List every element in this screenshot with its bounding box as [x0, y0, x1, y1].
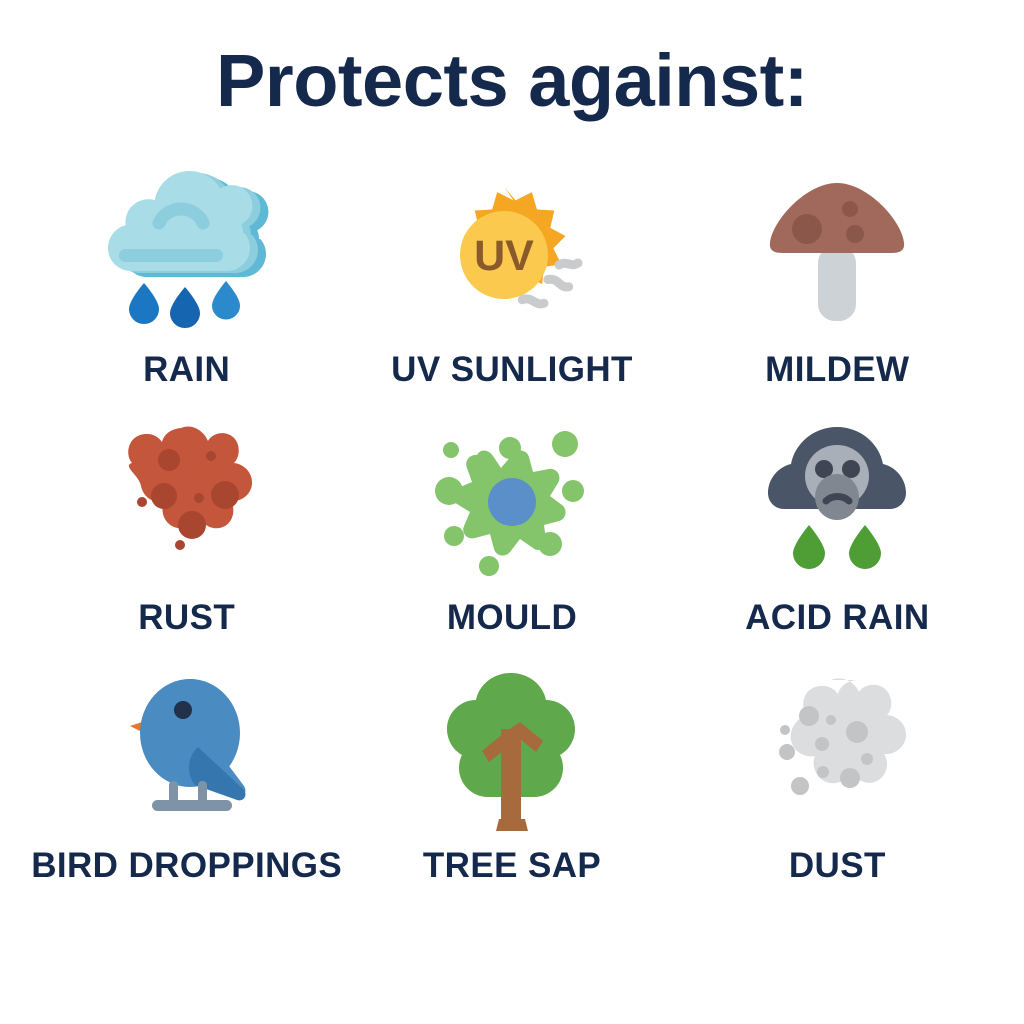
mushroom-icon [742, 166, 932, 336]
grid-item-label: BIRD DROPPINGS [31, 846, 342, 886]
grid-item-label: ACID RAIN [745, 598, 929, 638]
grid-item-label: DUST [789, 846, 886, 886]
grid-item-dust: DUST [675, 666, 1000, 916]
grid-item-acid-rain: ACID RAIN [675, 416, 1000, 666]
uv-sun-icon: UV [417, 166, 607, 336]
grid-item-label: TREE SAP [423, 846, 601, 886]
protection-grid: RAIN UV UV SUNLIGHT [0, 166, 1024, 916]
rust-blob-icon [92, 416, 282, 586]
uv-badge-text: UV [475, 232, 535, 280]
grid-item-uv: UV UV SUNLIGHT [349, 166, 674, 416]
grid-item-bird-droppings: BIRD DROPPINGS [24, 666, 349, 916]
grid-item-mildew: MILDEW [675, 166, 1000, 416]
grid-item-rust: RUST [24, 416, 349, 666]
acid-rain-cloud-icon [742, 416, 932, 586]
tree-icon [417, 666, 607, 836]
dust-cloud-icon [742, 666, 932, 836]
mould-spore-icon [417, 416, 607, 586]
grid-item-tree-sap: TREE SAP [349, 666, 674, 916]
page-title: Protects against: [0, 0, 1024, 118]
grid-item-rain: RAIN [24, 166, 349, 416]
grid-item-label: MILDEW [765, 350, 909, 390]
rain-cloud-icon [92, 166, 282, 336]
grid-item-label: RUST [138, 598, 235, 638]
grid-item-label: RAIN [143, 350, 230, 390]
grid-item-label: MOULD [447, 598, 577, 638]
infographic-poster: Protects against: RAIN [0, 0, 1024, 1024]
bird-icon [92, 666, 282, 836]
grid-item-mould: MOULD [349, 416, 674, 666]
grid-item-label: UV SUNLIGHT [391, 350, 633, 390]
